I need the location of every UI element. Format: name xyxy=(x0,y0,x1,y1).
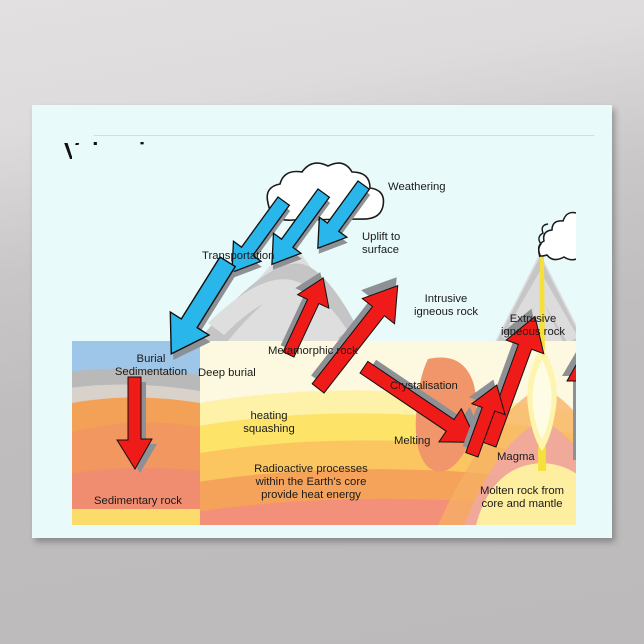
title-rule xyxy=(94,135,594,136)
sediment-base-yellow xyxy=(72,509,200,525)
diagram-svg xyxy=(72,145,576,525)
rock-cycle-diagram: Weathering Uplift to surface Transportat… xyxy=(72,145,576,525)
screenshot-stage: Volcanic Action xyxy=(0,0,644,644)
poster: Volcanic Action xyxy=(32,105,612,538)
